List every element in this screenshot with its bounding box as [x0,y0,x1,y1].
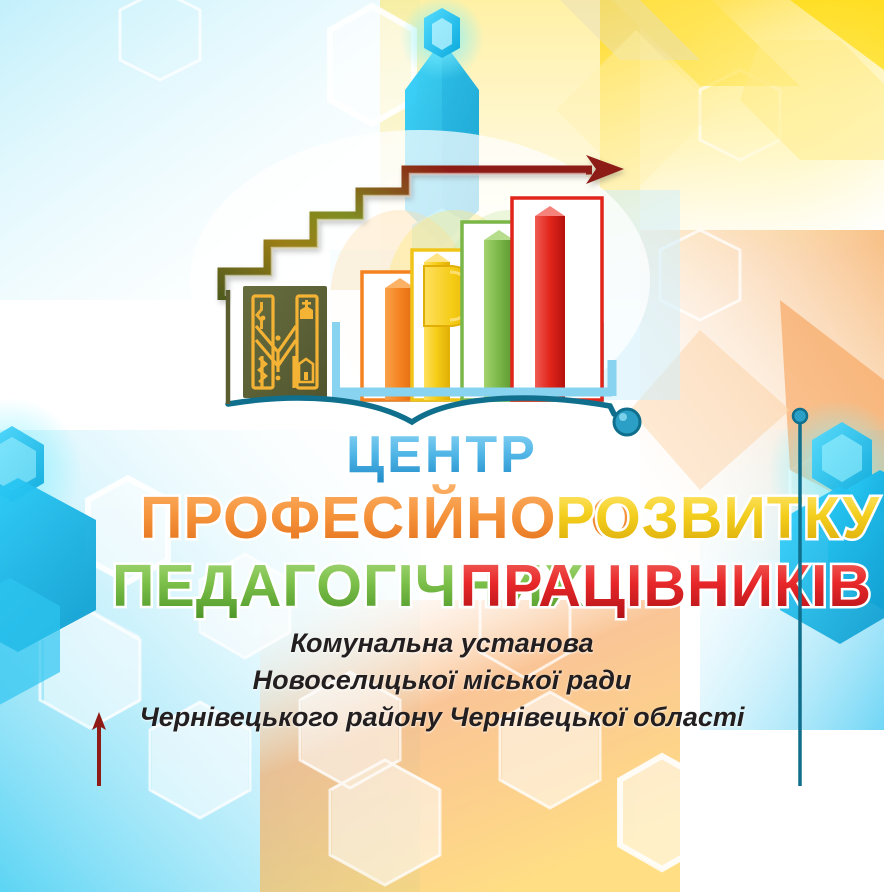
frame-svg [0,0,884,892]
frame-dot-icon [793,409,807,423]
frame-arrow [0,0,884,892]
promo-banner: ЦЕНТР ПРОФЕСІЙНОГО РОЗВИТКУ [0,0,884,892]
